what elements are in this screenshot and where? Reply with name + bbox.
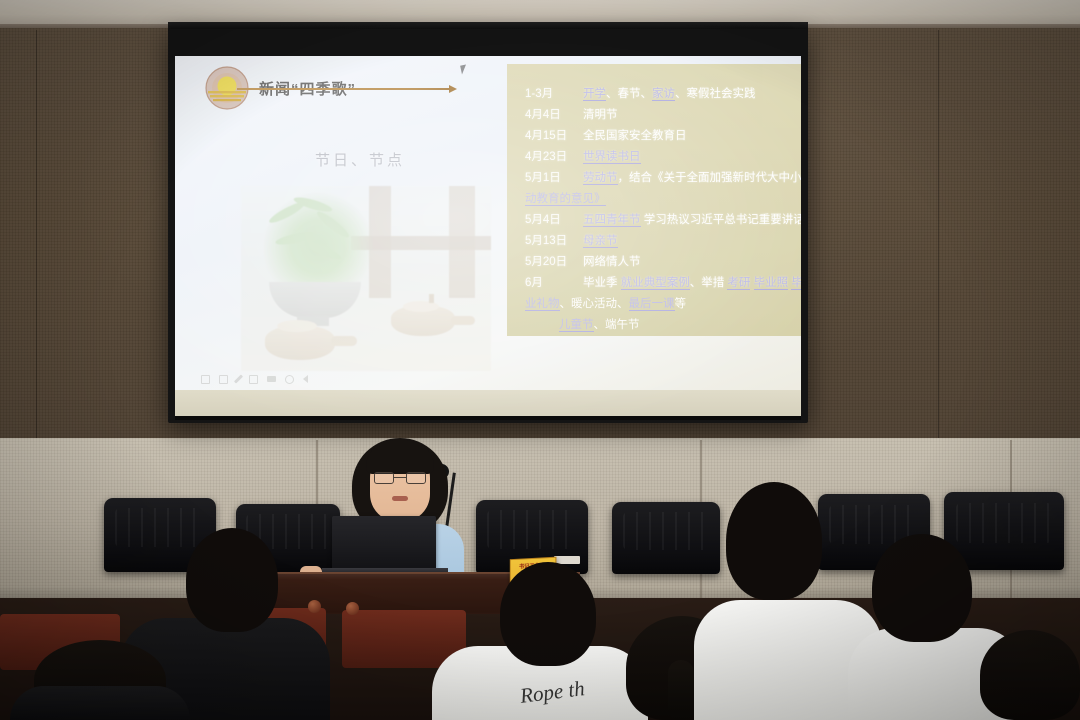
agenda-row: 5月1日劳动节，结合《关于全面加强新时代大中小学劳 — [525, 170, 789, 186]
agenda-row-body: 母亲节 — [583, 233, 789, 249]
mouth — [392, 496, 408, 501]
agenda-highlight: 世界读书日 — [583, 151, 641, 164]
screen-surface: 新闻“四季歌” 节日、节点 — [175, 56, 801, 416]
agenda-row: 4月15日全民国家安全教育日 — [525, 128, 789, 144]
agenda-highlight: 五四青年节 — [583, 214, 641, 227]
agenda-text: 清明节 — [583, 109, 618, 121]
agenda-row-body: 毕业季 就业典型案例、举措 考研 毕业照 毕 — [583, 275, 801, 291]
back-chevron-icon[interactable] — [303, 375, 308, 383]
agenda-row-date: 5月13日 — [525, 233, 583, 249]
agenda-highlight: 毕 — [791, 277, 801, 290]
agenda-row-body: 世界读书日 — [583, 149, 789, 165]
mouse-cursor — [460, 64, 468, 74]
wall-seam — [938, 30, 939, 440]
bonsai-and-teapots-photo — [241, 186, 491, 371]
agenda-highlight: 毕业照 — [754, 277, 789, 290]
agenda-row-date: 5月20日 — [525, 254, 583, 270]
audience-shoulders — [10, 686, 190, 720]
eyeglasses — [374, 472, 426, 484]
image-icon[interactable] — [249, 375, 258, 384]
audience-head — [872, 534, 972, 642]
agenda-row-body: 网络情人节 — [583, 254, 789, 270]
agenda-highlight: 开学 — [583, 88, 606, 101]
slide-section-title: 节日、节点 — [315, 149, 405, 170]
agenda-text: 毕业季 — [583, 277, 621, 289]
agenda-row-date: 5月1日 — [525, 170, 583, 186]
agenda-row-body: 劳动节，结合《关于全面加强新时代大中小学劳 — [583, 170, 801, 186]
agenda-highlight: 业礼物 — [525, 298, 560, 311]
agenda-row-date: 6月 — [525, 275, 583, 291]
agenda-row-body: 清明节 — [583, 107, 789, 123]
chair-knob — [346, 602, 359, 615]
agenda-row-date: 4月15日 — [525, 128, 583, 144]
slide-toolbar[interactable] — [201, 374, 308, 384]
agenda-text: 、寒假社会实践 — [675, 88, 756, 100]
agenda-row: 5月4日五四青年节 学习热议习近平总书记重要讲话 — [525, 212, 789, 228]
slides-icon[interactable] — [267, 376, 276, 382]
house-icon[interactable] — [219, 375, 228, 384]
agenda-row-date: 1-3月 — [525, 86, 583, 102]
slide-footer-band — [175, 390, 801, 416]
agenda-row-continuation: 儿童节、端午节 — [525, 317, 789, 333]
agenda-text: 学习热议习近平总书记重要讲话 — [641, 214, 802, 226]
agenda-row: 4月23日世界读书日 — [525, 149, 789, 165]
chair-knob — [308, 600, 321, 613]
agenda-row: 5月20日网络情人节 — [525, 254, 789, 270]
header-underline-arrow — [237, 88, 451, 90]
conference-room-scene: 新闻“四季歌” 节日、节点 — [0, 0, 1080, 720]
ponytail — [668, 660, 694, 720]
agenda-row-date: 4月4日 — [525, 107, 583, 123]
projection-screen: 新闻“四季歌” 节日、节点 — [168, 29, 808, 423]
agenda-highlight: 儿童节 — [559, 319, 594, 332]
agenda-text: ，结合《关于全面加强新时代大中小学劳 — [618, 172, 802, 184]
agenda-row-continuation: 动教育的意见》 — [525, 191, 789, 207]
agenda-row: 6月毕业季 就业典型案例、举措 考研 毕业照 毕 — [525, 275, 789, 291]
agenda-row-date: 5月4日 — [525, 212, 583, 228]
agenda-highlight: 就业典型案例 — [621, 277, 690, 290]
agenda-row: 1-3月开学、春节、家访、寒假社会实践 — [525, 86, 789, 102]
agenda-row: 5月13日母亲节 — [525, 233, 789, 249]
agenda-highlight: 最后一课 — [629, 298, 675, 311]
agenda-row-continuation: 业礼物、暖心活动、最后一课等 — [525, 296, 789, 312]
wall-seam — [36, 30, 37, 440]
agenda-highlight: 家访 — [652, 88, 675, 101]
agenda-text: 、暖心活动、 — [560, 298, 629, 310]
agenda-text: 等 — [675, 298, 687, 310]
audience-head — [500, 562, 596, 666]
agenda-row-date: 4月23日 — [525, 149, 583, 165]
audience-head — [726, 482, 822, 600]
circle-icon[interactable] — [285, 375, 294, 384]
audience-long-hair — [980, 630, 1080, 720]
presenter-laptop[interactable] — [332, 516, 436, 570]
screen-bottom-trim — [175, 416, 801, 420]
agenda-text: 网络情人节 — [583, 256, 641, 268]
agenda-text: 全民国家安全教育日 — [583, 130, 687, 142]
presentation-slide: 新闻“四季歌” 节日、节点 — [175, 56, 801, 416]
agenda-highlight: 考研 — [727, 277, 750, 290]
agenda-row-body: 全民国家安全教育日 — [583, 128, 789, 144]
home-icon[interactable] — [201, 375, 210, 384]
agenda-highlight: 母亲节 — [583, 235, 618, 248]
chair[interactable] — [612, 502, 720, 574]
agenda-highlight: 动教育的意见》 — [525, 193, 606, 206]
pen-icon[interactable] — [234, 374, 243, 383]
agenda-highlight: 劳动节 — [583, 172, 618, 185]
agenda-list-panel: 1-3月开学、春节、家访、寒假社会实践4月4日清明节4月15日全民国家安全教育日… — [507, 64, 801, 336]
agenda-text: 、春节、 — [606, 88, 652, 100]
audience-head — [186, 528, 278, 632]
agenda-text: 、端午节 — [594, 319, 640, 331]
agenda-row: 4月4日清明节 — [525, 107, 789, 123]
agenda-text: 、举措 — [690, 277, 728, 289]
agenda-row-body: 五四青年节 学习热议习近平总书记重要讲话 — [583, 212, 801, 228]
agenda-row-body: 开学、春节、家访、寒假社会实践 — [583, 86, 789, 102]
